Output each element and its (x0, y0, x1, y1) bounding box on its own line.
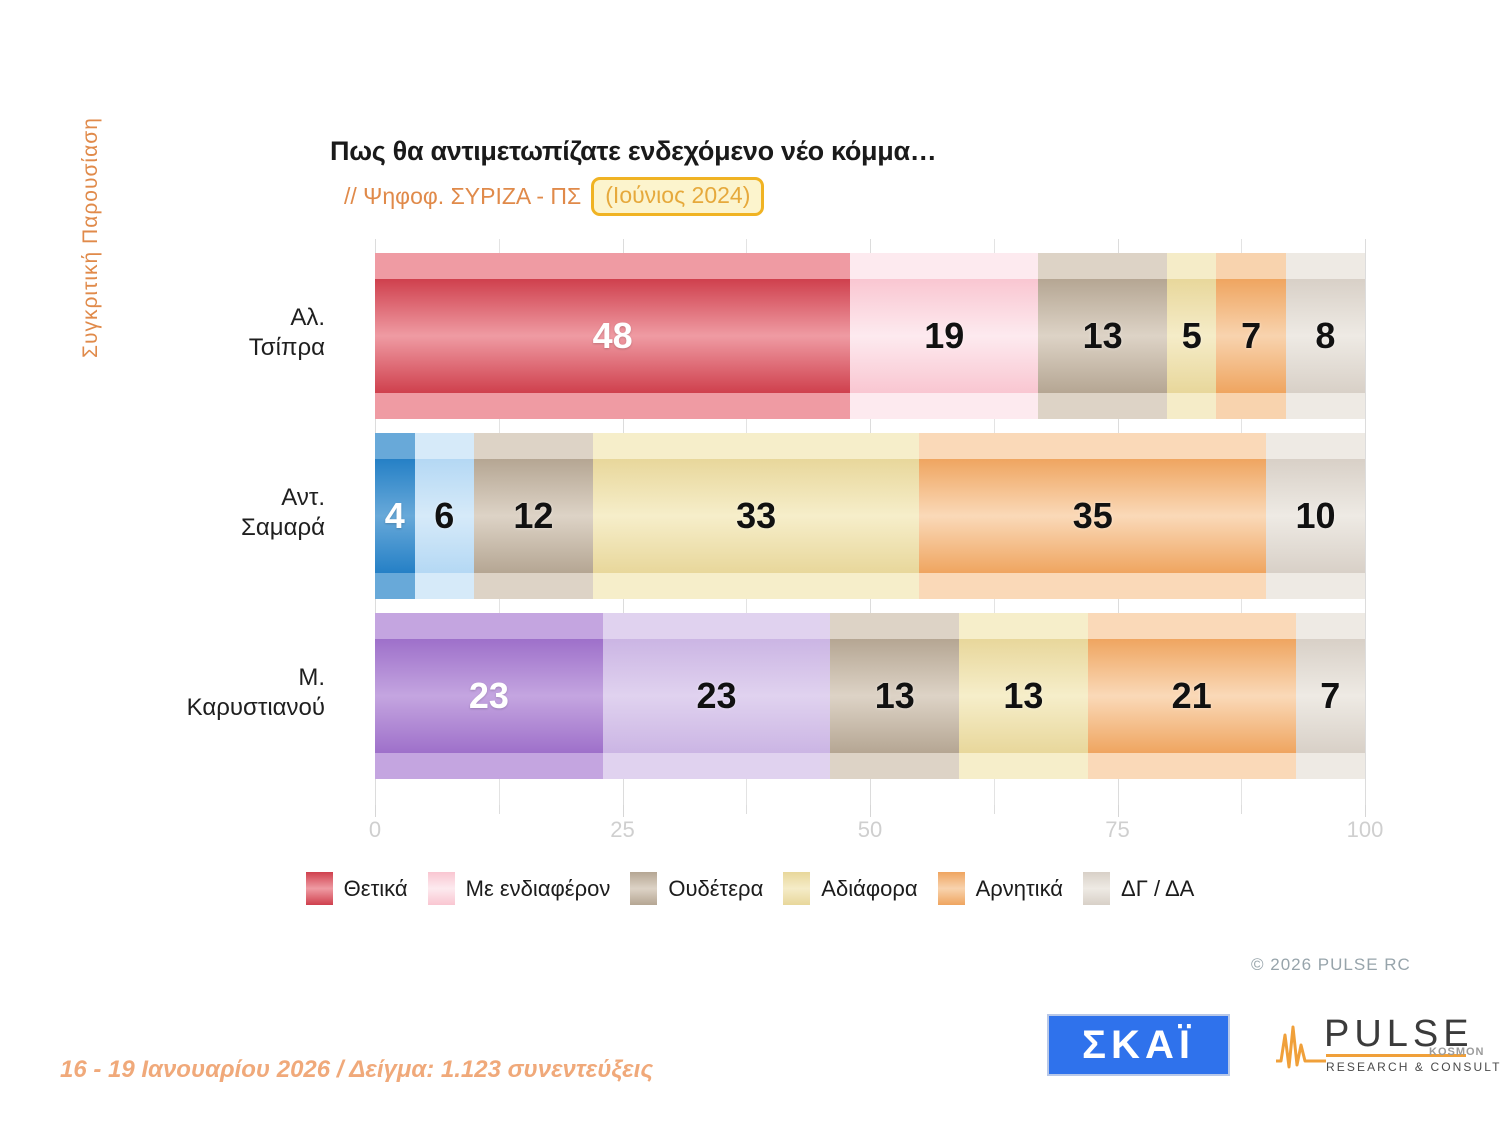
bar-segment: 8 (1286, 253, 1365, 419)
category-label-line: Αλ. (249, 303, 325, 333)
bar-segment-value: 33 (736, 495, 776, 537)
bar-segment: 13 (959, 613, 1088, 779)
chart-plot-area: PULSE RESEARCH & CONSULTING ⋀ 4819135784… (375, 239, 1365, 805)
copyright-text: © 2026 PULSE RC (1251, 955, 1411, 975)
bar-segment-value: 13 (1083, 315, 1123, 357)
subtitle-period-badge: (Ιούνιος 2024) (591, 177, 764, 216)
bar-rows: 481913578461233351023231313217 (375, 239, 1365, 805)
x-axis-tick (623, 805, 624, 817)
x-axis-tick-label: 0 (369, 817, 381, 843)
bar-segment: 13 (1038, 253, 1167, 419)
x-axis-tick-label: 25 (610, 817, 634, 843)
legend-swatch (428, 872, 455, 905)
fieldwork-note: 16 - 19 Ιανουαρίου 2026 / Δείγμα: 1.123 … (60, 1056, 653, 1084)
bar-segment: 23 (603, 613, 831, 779)
category-label-line: Σαμαρά (241, 513, 325, 543)
bar-segment-value: 6 (434, 495, 454, 537)
pulse-wave-icon (1274, 1021, 1330, 1077)
title-block: Πως θα αντιμετωπίζατε ενδεχόμενο νέο κόμ… (330, 136, 936, 216)
category-label: Μ.Καρυστιανού (187, 663, 325, 723)
bar-row: 481913578 (375, 253, 1365, 419)
page-title: Πως θα αντιμετωπίζατε ενδεχόμενο νέο κόμ… (330, 136, 936, 167)
bar-segment-value: 13 (1003, 675, 1043, 717)
bar-segment-value: 10 (1295, 495, 1335, 537)
bar-segment-value: 7 (1241, 315, 1261, 357)
x-axis-tick-label: 100 (1347, 817, 1384, 843)
x-axis-tick-label: 50 (858, 817, 882, 843)
bar-segment: 21 (1088, 613, 1296, 779)
skai-logo: ΣΚΑΪ (1047, 1014, 1230, 1076)
bar-segment: 5 (1167, 253, 1217, 419)
x-axis-tick (746, 805, 747, 814)
bar-segment: 6 (415, 433, 474, 599)
bar-segment-value: 23 (469, 675, 509, 717)
bar-segment-value: 12 (513, 495, 553, 537)
y-axis-title: Συγκριτική Παρουσίαση (79, 0, 103, 358)
bar-segment: 33 (593, 433, 920, 599)
legend-swatch (630, 872, 657, 905)
x-axis-tick (1241, 805, 1242, 814)
pulse-logo-subtext: RESEARCH & CONSULTING (1326, 1060, 1500, 1074)
legend-swatch (938, 872, 965, 905)
legend-label: ΔΓ / ΔΑ (1121, 876, 1194, 902)
legend-swatch (1083, 872, 1110, 905)
category-label: Αλ.Τσίπρα (249, 303, 325, 363)
legend-item[interactable]: Αδιάφορα (783, 872, 917, 905)
category-label-line: Μ. (187, 663, 325, 693)
legend-item[interactable]: Ουδέτερα (630, 872, 763, 905)
gridline (1365, 239, 1366, 805)
bar-segment: 19 (850, 253, 1038, 419)
bar-segment-value: 7 (1320, 675, 1340, 717)
bar-segment-value: 5 (1182, 315, 1202, 357)
bar-segment: 7 (1296, 613, 1365, 779)
bar-segment-value: 35 (1073, 495, 1113, 537)
bar-segment-value: 48 (593, 315, 633, 357)
bar-segment-value: 23 (697, 675, 737, 717)
legend-label: Θετικά (344, 876, 408, 902)
legend-label: Αρνητικά (976, 876, 1063, 902)
legend-label: Με ενδιαφέρον (466, 876, 611, 902)
bar-segment: 48 (375, 253, 850, 419)
pulse-logo: PULSE KOSMON RESEARCH & CONSULTING (1272, 1013, 1484, 1081)
skai-logo-text: ΣΚΑΪ (1082, 1025, 1195, 1065)
bar-segment-value: 4 (385, 495, 405, 537)
bar-segment: 4 (375, 433, 415, 599)
bar-segment: 7 (1216, 253, 1285, 419)
subtitle-row: // Ψηφοφ. ΣΥΡΙΖΑ - ΠΣ (Ιούνιος 2024) (344, 177, 936, 216)
bar-segment: 12 (474, 433, 593, 599)
bar-segment-value: 13 (875, 675, 915, 717)
x-axis: 0255075100 (375, 805, 1365, 855)
bar-segment: 35 (919, 433, 1266, 599)
x-axis-tick-label: 75 (1105, 817, 1129, 843)
x-axis-tick (994, 805, 995, 814)
legend-item[interactable]: Αρνητικά (938, 872, 1063, 905)
pulse-logo-kosmon: KOSMON (1429, 1046, 1485, 1058)
x-axis-tick (870, 805, 871, 817)
x-axis-tick (1365, 805, 1366, 817)
x-axis-tick (1118, 805, 1119, 817)
subtitle-text: // Ψηφοφ. ΣΥΡΙΖΑ - ΠΣ (344, 183, 581, 210)
bar-segment: 10 (1266, 433, 1365, 599)
bar-segment-value: 19 (924, 315, 964, 357)
x-axis-tick (499, 805, 500, 814)
legend: ΘετικάΜε ενδιαφέρονΟυδέτεραΑδιάφοραΑρνητ… (0, 872, 1500, 905)
legend-item[interactable]: Θετικά (306, 872, 408, 905)
legend-swatch (306, 872, 333, 905)
category-label-line: Τσίπρα (249, 333, 325, 363)
category-label-line: Αντ. (241, 483, 325, 513)
bar-segment-value: 8 (1315, 315, 1335, 357)
legend-item[interactable]: Με ενδιαφέρον (428, 872, 611, 905)
legend-item[interactable]: ΔΓ / ΔΑ (1083, 872, 1194, 905)
bar-row: 4612333510 (375, 433, 1365, 599)
bar-segment: 13 (830, 613, 959, 779)
bar-segment: 23 (375, 613, 603, 779)
legend-swatch (783, 872, 810, 905)
legend-label: Αδιάφορα (821, 876, 917, 902)
x-axis-tick (375, 805, 376, 817)
bar-segment-value: 21 (1172, 675, 1212, 717)
bar-row: 23231313217 (375, 613, 1365, 779)
category-label-line: Καρυστιανού (187, 693, 325, 723)
legend-label: Ουδέτερα (668, 876, 763, 902)
category-label: Αντ.Σαμαρά (241, 483, 325, 543)
